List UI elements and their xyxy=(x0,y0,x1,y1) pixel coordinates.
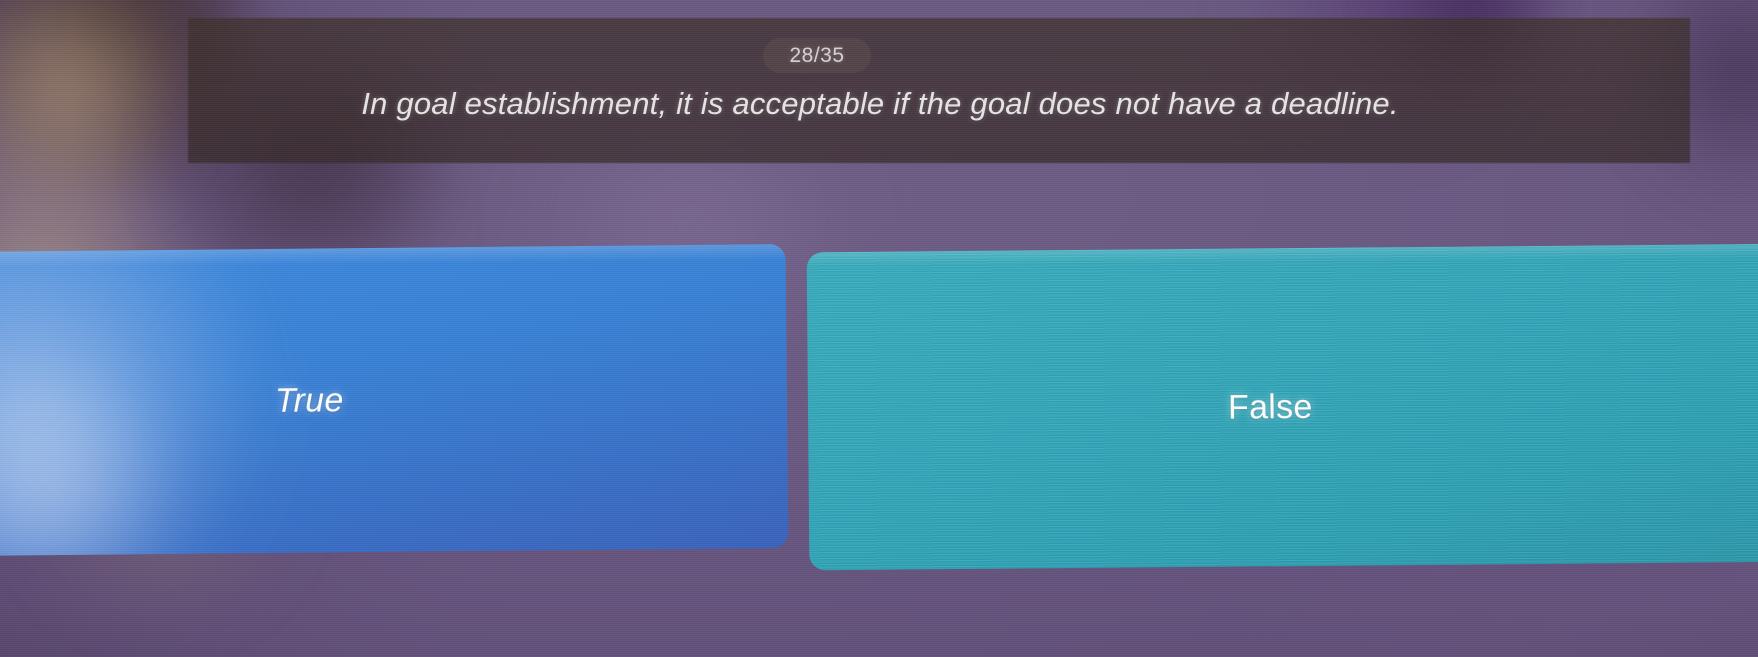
answer-button-false[interactable]: False xyxy=(807,244,1758,571)
quiz-screen: 28/35 In goal establishment, it is accep… xyxy=(0,0,1758,657)
answer-label-false: False xyxy=(1228,387,1313,427)
true-button-glare-secondary xyxy=(0,370,197,556)
answer-label-true: True xyxy=(275,381,344,421)
question-text: In goal establishment, it is acceptable … xyxy=(130,86,1630,122)
progress-counter: 28/35 xyxy=(763,38,871,73)
answer-button-true[interactable]: True xyxy=(0,244,788,556)
